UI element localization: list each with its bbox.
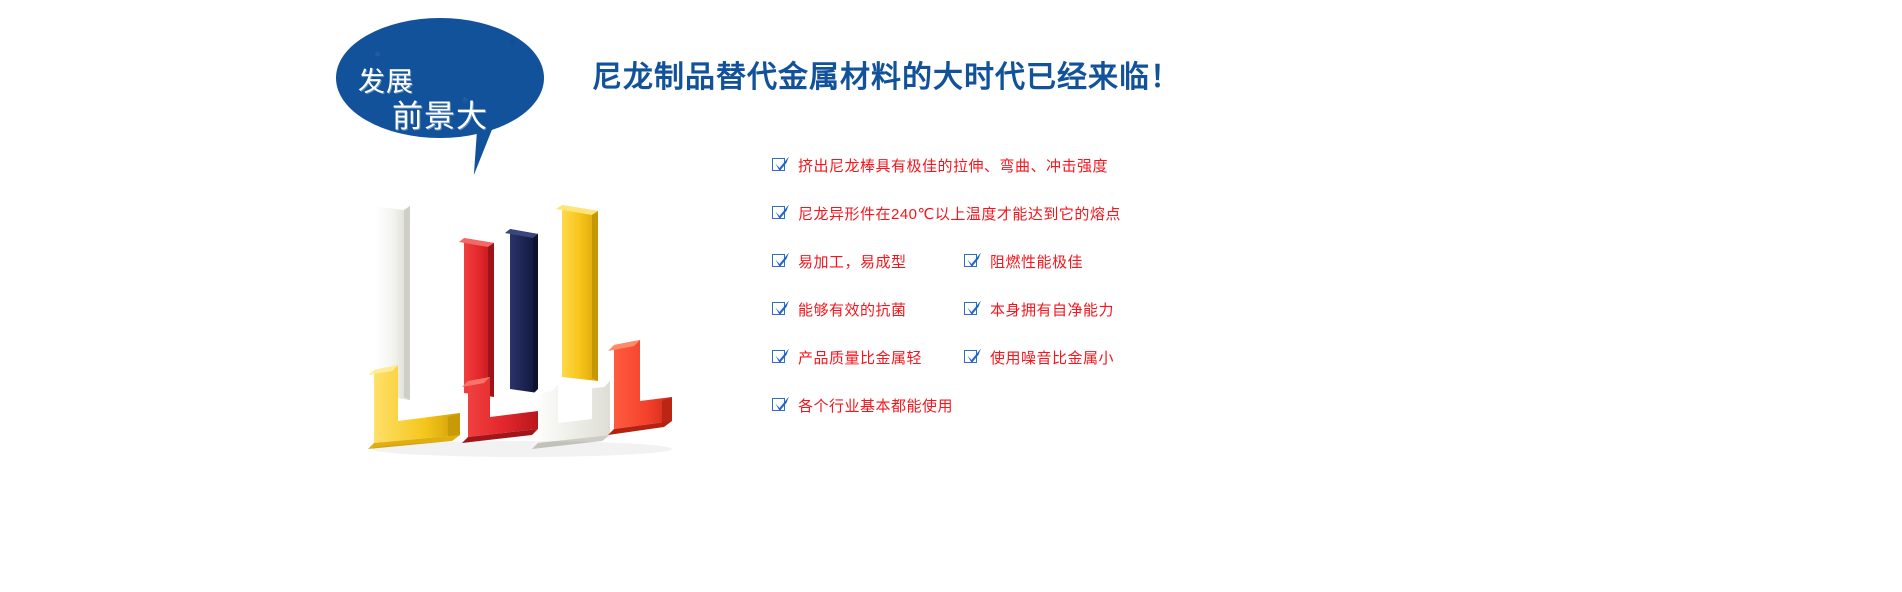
promo-banner: 发展 前景大 尼龙制品替代金属材料的大时代已经来临！ [0,0,1902,592]
checklist-item-label: 尼龙异形件在240℃以上温度才能达到它的熔点 [798,203,1121,224]
checklist-item: 能够有效的抗菌 [772,299,907,320]
checkbox-checked-icon [964,302,979,317]
checklist-item: 各个行业基本都能使用 [772,395,953,416]
banner-headline: 尼龙制品替代金属材料的大时代已经来临！ [592,52,1181,96]
checklist-item: 使用噪音比金属小 [964,347,1114,368]
checkbox-checked-icon [964,254,979,269]
checklist-item-label: 易加工，易成型 [798,251,907,272]
checklist-item: 阻燃性能极佳 [964,251,1083,272]
checklist-item-label: 阻燃性能极佳 [990,251,1083,272]
checkbox-checked-icon [772,398,787,413]
speech-bubble: 发展 前景大 [336,18,552,168]
nylon-profiles-illustration [352,185,712,460]
checklist-item-label: 各个行业基本都能使用 [798,395,953,416]
checklist-item: 易加工，易成型 [772,251,907,272]
checklist-row: 挤出尼龙棒具有极佳的拉伸、弯曲、冲击强度 [772,155,1332,203]
piece-yellow-tall-bar [556,205,598,381]
checklist-item-label: 能够有效的抗菌 [798,299,907,320]
piece-red-tall-bar [459,238,494,397]
checkbox-checked-icon [772,302,787,317]
product-photo [352,185,712,460]
checklist-item: 本身拥有自净能力 [964,299,1114,320]
piece-white-u-channel [532,381,610,449]
checkbox-checked-icon [772,206,787,221]
speech-bubble-line-2: 前景大 [392,91,488,136]
checklist-row: 能够有效的抗菌 本身拥有自净能力 [772,299,1332,347]
piece-navy-tall-bar [505,229,538,393]
checklist-item: 产品质量比金属轻 [772,347,922,368]
checklist-item-label: 挤出尼龙棒具有极佳的拉伸、弯曲、冲击强度 [798,155,1108,176]
checkbox-checked-icon [964,350,979,365]
checkbox-checked-icon [772,350,787,365]
checklist-item: 挤出尼龙棒具有极佳的拉伸、弯曲、冲击强度 [772,155,1108,176]
checklist-row: 产品质量比金属轻 使用噪音比金属小 [772,347,1332,395]
checklist-row: 尼龙异形件在240℃以上温度才能达到它的熔点 [772,203,1332,251]
piece-red-l-angle [608,340,672,435]
checkbox-checked-icon [772,254,787,269]
feature-checklist: 挤出尼龙棒具有极佳的拉伸、弯曲、冲击强度 尼龙异形件在240℃以上温度才能达到它… [772,155,1332,443]
checklist-item-label: 本身拥有自净能力 [990,299,1114,320]
checklist-row: 各个行业基本都能使用 [772,395,1332,443]
checklist-item-label: 产品质量比金属轻 [798,347,922,368]
checklist-item-label: 使用噪音比金属小 [990,347,1114,368]
checkbox-checked-icon [772,158,787,173]
checklist-row: 易加工，易成型 阻燃性能极佳 [772,251,1332,299]
checklist-item: 尼龙异形件在240℃以上温度才能达到它的熔点 [772,203,1121,224]
piece-yellow-angle [368,365,460,449]
